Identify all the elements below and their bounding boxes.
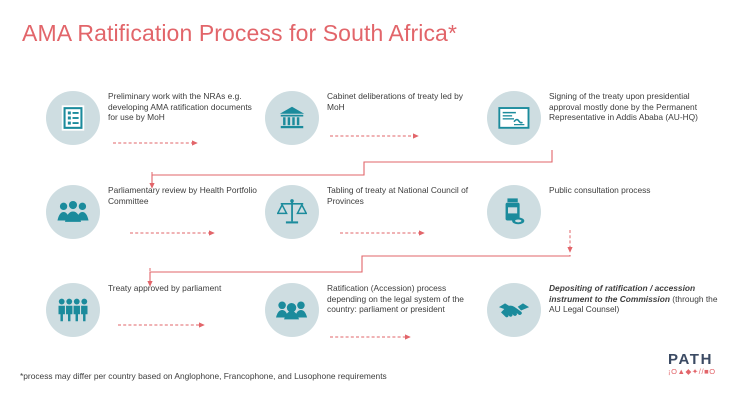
path-logo-glyph-row: ¡O▲◆✦//■O [668, 368, 728, 376]
handshake-icon [487, 283, 541, 337]
footnote-text: *process may differ per country based on… [20, 371, 387, 381]
step-label: Cabinet deliberations of treaty led by M… [327, 91, 479, 112]
four-people-icon [46, 283, 100, 337]
path-logo-wordmark: PATH [668, 352, 728, 367]
page-title: AMA Ratification Process for South Afric… [22, 20, 457, 47]
step-label: Ratification (Accession) process dependi… [327, 283, 479, 315]
step-label: Treaty approved by parliament [108, 283, 260, 294]
signed-document-icon [487, 91, 541, 145]
step-label: Public consultation process [549, 185, 701, 196]
step-label: Tabling of treaty at National Council of… [327, 185, 479, 206]
scales-of-justice-icon [265, 185, 319, 239]
step-label: Parliamentary review by Health Portfolio… [108, 185, 260, 206]
step-label: Signing of the treaty upon presidential … [549, 91, 719, 123]
step-label: Preliminary work with the NRAs e.g. deve… [108, 91, 260, 123]
people-trio-icon [265, 283, 319, 337]
medicine-bottle-icon [487, 185, 541, 239]
step-label: Depositing of ratification / accession i… [549, 283, 719, 315]
people-group-icon [46, 185, 100, 239]
path-logo: PATH ¡O▲◆✦//■O [668, 352, 728, 376]
checklist-document-icon [46, 91, 100, 145]
government-building-icon [265, 91, 319, 145]
step-label-rest: Ratification (Accession) process dependi… [327, 283, 464, 314]
slide-canvas: AMA Ratification Process for South Afric… [0, 0, 745, 410]
